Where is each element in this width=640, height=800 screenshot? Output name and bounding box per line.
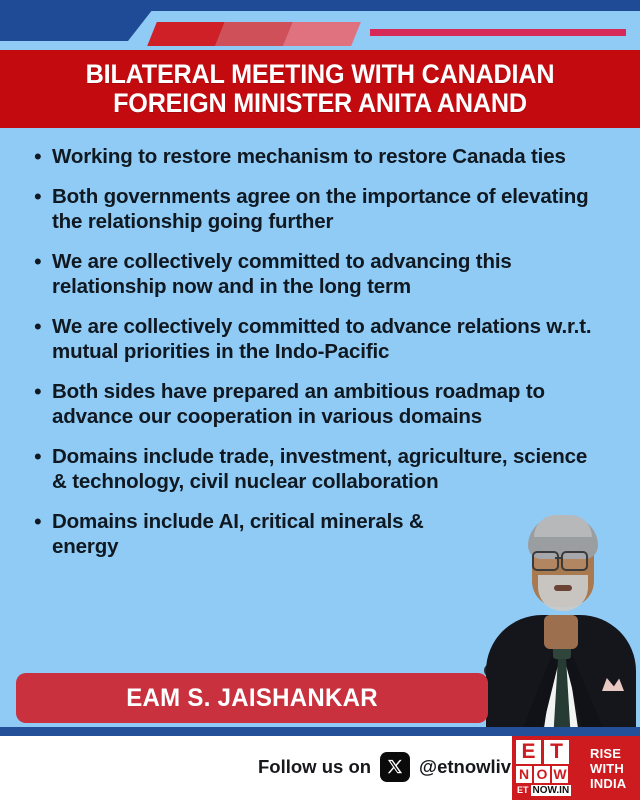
tagline-line-2: WITH (590, 761, 640, 776)
bullet-dot-icon: • (34, 509, 52, 534)
parallelogram-1-shape (147, 22, 225, 46)
bullet-dot-icon: • (34, 314, 52, 339)
etnow-url-prefix: ET (516, 785, 530, 796)
list-item: • Both sides have prepared an ambitious … (34, 379, 606, 429)
list-item-text: We are collectively committed to advance… (52, 314, 606, 364)
list-item: • Domains include trade, investment, agr… (34, 444, 606, 494)
etnow-tagline: RISE WITH INDIA (586, 736, 640, 800)
etnow-logo[interactable]: E T N O W ET NOW.IN RISE WITH INDIA (512, 736, 640, 800)
headline-title: BILATERAL MEETING WITH CANADIAN FOREIGN … (29, 60, 610, 117)
x-twitter-icon[interactable] (380, 752, 410, 782)
list-item: • Both governments agree on the importan… (34, 184, 606, 234)
top-decor-band (0, 0, 640, 50)
etnow-logo-letter-t: T (544, 740, 569, 764)
bottom-navy-strip (0, 727, 640, 736)
pink-rule-shape (370, 29, 626, 36)
list-item-text: Working to restore mechanism to restore … (52, 144, 606, 169)
etnow-logo-et-row: E T (516, 740, 586, 764)
etnow-logo-mark: E T N O W ET NOW.IN (512, 736, 586, 800)
news-card: BILATERAL MEETING WITH CANADIAN FOREIGN … (0, 0, 640, 800)
etnow-logo-now-row: N O W (516, 766, 586, 783)
beard-shape (538, 575, 588, 611)
social-handle[interactable]: @etnowlive (419, 756, 521, 778)
bullet-list: • Working to restore mechanism to restor… (0, 132, 640, 574)
speaker-name-banner: EAM S. JAISHANKAR (16, 673, 488, 723)
list-item: • We are collectively committed to advan… (34, 249, 606, 299)
etnow-logo-url: ET NOW.IN (516, 785, 586, 796)
bullet-dot-icon: • (34, 444, 52, 469)
etnow-url-rest: NOW.IN (531, 785, 572, 796)
etnow-logo-letter-e: E (516, 740, 541, 764)
speaker-name: EAM S. JAISHANKAR (126, 684, 378, 713)
follow-us-label: Follow us on (258, 756, 371, 778)
etnow-logo-letter-n: N (516, 766, 532, 783)
parallelogram-2-shape (215, 22, 293, 46)
headline-banner: BILATERAL MEETING WITH CANADIAN FOREIGN … (0, 50, 640, 128)
etnow-logo-letter-w: W (552, 766, 568, 783)
list-item-text: Domains include trade, investment, agric… (52, 444, 606, 494)
neck-shape (544, 615, 578, 649)
list-item-text: Both governments agree on the importance… (52, 184, 606, 234)
tagline-line-1: RISE (590, 746, 640, 761)
list-item: • Domains include AI, critical minerals … (34, 509, 606, 559)
bullet-dot-icon: • (34, 184, 52, 209)
navy-block-shape (0, 0, 160, 41)
list-item: • We are collectively committed to advan… (34, 314, 606, 364)
follow-us-group: Follow us on @etnowlive (258, 752, 521, 782)
bullet-dot-icon: • (34, 249, 52, 274)
list-item-text: Domains include AI, critical minerals & … (52, 509, 482, 559)
list-item-text: We are collectively committed to advanci… (52, 249, 606, 299)
list-item: • Working to restore mechanism to restor… (34, 144, 606, 169)
bullet-dot-icon: • (34, 379, 52, 404)
tagline-line-3: INDIA (590, 776, 640, 791)
bullet-dot-icon: • (34, 144, 52, 169)
list-item-text: Both sides have prepared an ambitious ro… (52, 379, 606, 429)
parallelogram-3-shape (283, 22, 361, 46)
etnow-logo-letter-o: O (534, 766, 550, 783)
mouth-shape (554, 585, 572, 591)
footer-bar: Follow us on @etnowlive E T N O W (0, 736, 640, 800)
